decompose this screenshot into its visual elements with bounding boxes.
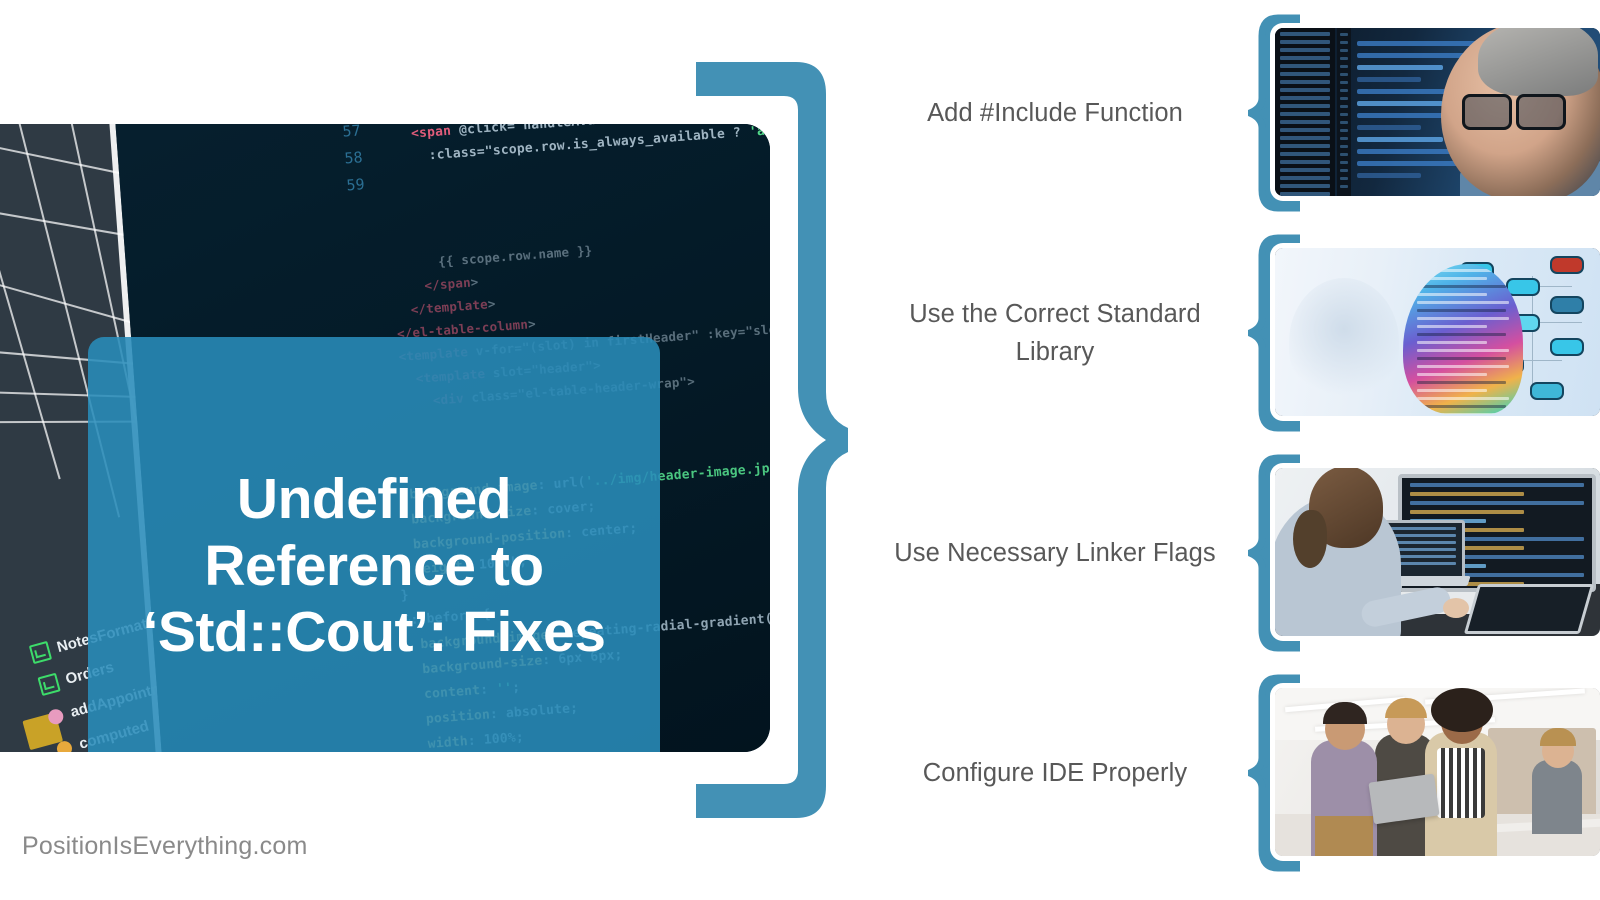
list-item: Use Necessary Linker Flags xyxy=(880,454,1600,652)
left-curly-brace-icon xyxy=(676,62,856,818)
hero-image-panel: NotesFormat Orders addAppointment comput… xyxy=(0,124,770,752)
item-label: Add #Include Function xyxy=(880,14,1230,212)
item-thumbnail xyxy=(1275,28,1600,196)
page-title: Undefined Reference to ‘Std::Cout’: Fixe… xyxy=(88,466,660,666)
list-item: Use the Correct Standard Library xyxy=(880,234,1600,432)
green-export-icon xyxy=(37,673,60,696)
item-thumbnail xyxy=(1275,248,1600,416)
item-label: Use Necessary Linker Flags xyxy=(880,454,1230,652)
item-thumbnail xyxy=(1275,688,1600,856)
pink-method-icon xyxy=(47,708,65,726)
item-label: Configure IDE Properly xyxy=(880,674,1230,872)
slide-title-card: Undefined Reference to ‘Std::Cout’: Fixe… xyxy=(88,337,660,752)
list-item: Add #Include Function xyxy=(880,14,1600,212)
list-item: Configure IDE Properly xyxy=(880,674,1600,872)
amber-property-icon xyxy=(55,739,73,752)
green-export-icon xyxy=(29,641,52,664)
item-label: Use the Correct Standard Library xyxy=(880,234,1230,432)
item-thumbnail xyxy=(1275,468,1600,636)
watermark: PositionIsEverything.com xyxy=(22,832,307,861)
eyeglasses-shape xyxy=(1462,94,1566,124)
